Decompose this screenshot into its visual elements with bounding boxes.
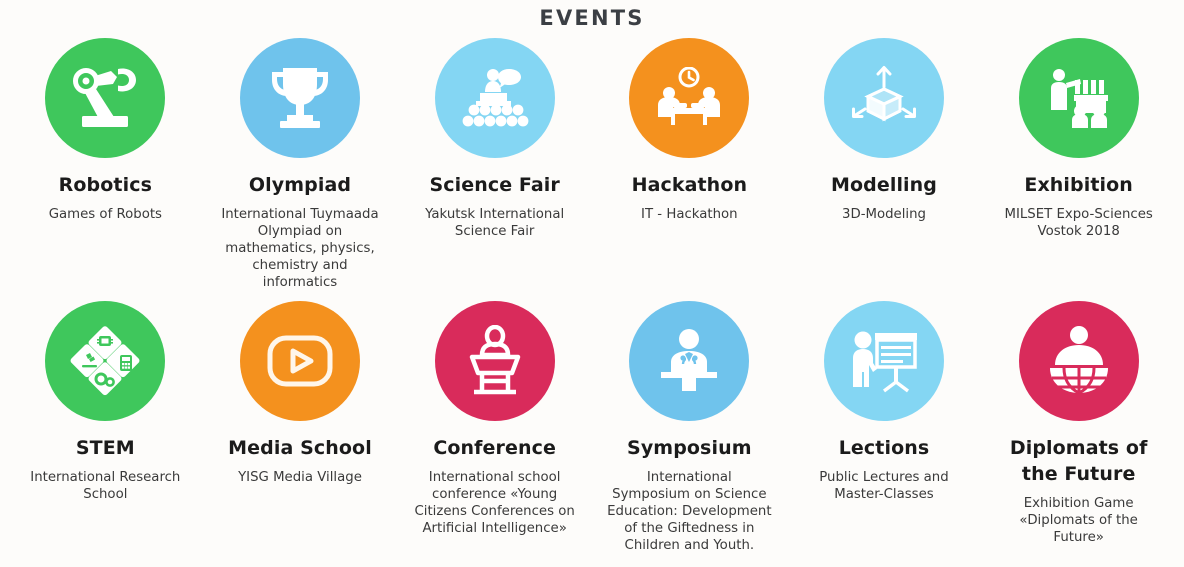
events-row-2: STEM International Research School Media… [0,293,1184,554]
video-play-icon [262,333,338,389]
event-title: Exhibition [1024,172,1133,198]
event-badge-diplomats[interactable] [1019,301,1139,421]
event-badge-robotics[interactable] [45,38,165,158]
event-card-media-school[interactable]: Media School YISG Media Village [203,293,398,554]
globe-person-icon [1042,325,1116,397]
event-caption: Public Lectures and Master-Classes [801,469,966,503]
panel-speaker-mic-icon [653,328,725,394]
event-caption: International Tuymaada Olympiad on mathe… [217,206,382,291]
event-badge-conference[interactable] [435,301,555,421]
event-caption: International school conference «Young C… [412,469,577,537]
event-caption: Exhibition Game «Diplomats of the Future… [996,495,1161,546]
event-card-diplomats[interactable]: Diplomats of the Future Exhibition Game … [981,293,1176,554]
event-badge-hackathon[interactable] [629,38,749,158]
trophy-icon [267,64,333,132]
event-card-lections[interactable]: Lections Public Lectures and Master-Clas… [787,293,982,554]
event-title: Hackathon [632,172,748,198]
podium-audience-icon [458,66,532,130]
event-title: Diplomats of the Future [991,435,1166,487]
event-badge-science-fair[interactable] [435,38,555,158]
event-card-modelling[interactable]: Modelling 3D-Modeling [787,32,982,291]
presenter-flipchart-icon [846,327,922,395]
event-caption: Games of Robots [49,206,162,223]
event-card-exhibition[interactable]: Exhibition MILSET Expo-Sciences Vostok 2… [981,32,1176,291]
cube-axes-icon [848,65,920,131]
event-title: Lections [839,435,930,461]
event-caption: International Symposium on Science Educa… [607,469,772,554]
event-badge-exhibition[interactable] [1019,38,1139,158]
event-badge-media-school[interactable] [240,301,360,421]
event-card-science-fair[interactable]: Science Fair Yakutsk International Scien… [397,32,592,291]
event-caption: Yakutsk International Science Fair [412,206,577,240]
event-card-symposium[interactable]: Symposium International Symposium on Sci… [592,293,787,554]
events-page: EVENTS Robotics Games of Rob [0,0,1184,567]
event-card-stem[interactable]: STEM International Research School [8,293,203,554]
page-title: EVENTS [0,0,1184,32]
event-card-hackathon[interactable]: Hackathon IT - Hackathon [592,32,787,291]
event-title: Modelling [831,172,937,198]
two-people-desk-clock-icon [651,67,727,129]
event-title: Science Fair [429,172,559,198]
event-caption: International Research School [23,469,188,503]
event-badge-lections[interactable] [824,301,944,421]
event-caption: YISG Media Village [238,469,362,486]
event-badge-stem[interactable] [45,301,165,421]
event-caption: MILSET Expo-Sciences Vostok 2018 [996,206,1161,240]
event-caption: 3D-Modeling [842,206,926,223]
event-title: Media School [228,435,372,461]
events-row-1: Robotics Games of Robots Olympiad [0,32,1184,291]
event-title: STEM [76,435,135,461]
event-title: Olympiad [249,172,351,198]
event-card-conference[interactable]: Conference International school conferen… [397,293,592,554]
event-badge-modelling[interactable] [824,38,944,158]
event-caption: IT - Hackathon [641,206,738,223]
exhibition-booth-icon [1042,66,1116,130]
event-badge-olympiad[interactable] [240,38,360,158]
robot-arm-icon [70,65,140,131]
event-title: Symposium [627,435,752,461]
event-card-olympiad[interactable]: Olympiad International Tuymaada Olympiad… [203,32,398,291]
lectern-speaker-icon [460,325,530,397]
stem-diamonds-icon [66,322,144,400]
event-title: Conference [433,435,556,461]
event-title: Robotics [59,172,152,198]
event-badge-symposium[interactable] [629,301,749,421]
event-card-robotics[interactable]: Robotics Games of Robots [8,32,203,291]
